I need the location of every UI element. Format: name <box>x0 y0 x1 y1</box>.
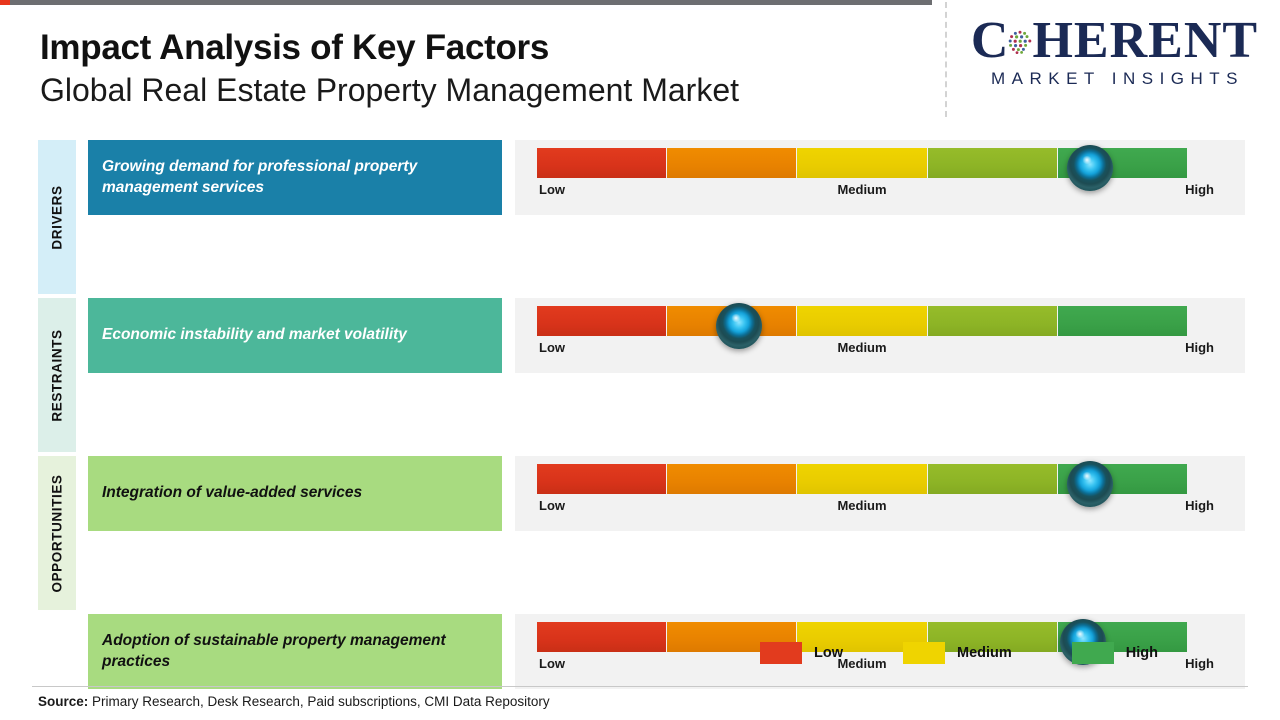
factor-box: Growing demand for professional property… <box>88 140 502 215</box>
factor-label: Integration of value-added services <box>102 483 362 503</box>
gauge-segment-5 <box>1058 306 1187 336</box>
scale-label-high: High <box>1185 340 1214 355</box>
gauge-scale: Low Medium High <box>537 340 1187 360</box>
factor-label: Adoption of sustainable property managem… <box>102 631 488 672</box>
gauge-segment-4 <box>928 464 1057 494</box>
factor-label: Economic instability and market volatili… <box>102 325 407 345</box>
gauge-segment-2 <box>667 306 796 336</box>
gauge-scale: Low Medium High <box>537 498 1187 518</box>
gauge-segment-3 <box>797 148 926 178</box>
group-opportunities: OPPORTUNITIES Integration of value-added… <box>0 456 1280 614</box>
scale-label-low: Low <box>539 182 565 197</box>
impact-gauge: Low Medium High <box>515 140 1245 215</box>
scale-label-medium: Medium <box>837 182 886 197</box>
page-title: Impact Analysis of Key Factors <box>40 28 920 67</box>
source-note: Source: Primary Research, Desk Research,… <box>38 694 550 709</box>
legend-swatch-low <box>760 642 802 664</box>
gauge-segment-1 <box>537 464 666 494</box>
header-divider <box>945 2 947 117</box>
factor-box: Economic instability and market volatili… <box>88 298 502 373</box>
legend-item-low: Low <box>760 642 843 664</box>
gauge-bar <box>537 464 1187 494</box>
legend-swatch-high <box>1072 642 1114 664</box>
scale-label-medium: Medium <box>837 498 886 513</box>
factor-box: Adoption of sustainable property managem… <box>88 614 502 689</box>
logo-initial: C <box>971 15 1009 67</box>
logo: C <box>962 18 1267 89</box>
gauge-segment-1 <box>537 148 666 178</box>
page-subtitle: Global Real Estate Property Management M… <box>40 71 920 109</box>
factor-box: Integration of value-added services <box>88 456 502 531</box>
footer-divider <box>32 686 1248 687</box>
impact-gauge: Low Medium High <box>515 298 1245 373</box>
group-restraints: RESTRAINTS Economic instability and mark… <box>0 298 1280 456</box>
infographic-page: Impact Analysis of Key Factors Global Re… <box>0 0 1280 720</box>
gauge-segment-1 <box>537 622 666 652</box>
gauge-segment-3 <box>797 306 926 336</box>
table-row: Integration of value-added services Low … <box>0 456 1280 531</box>
top-accent-bar <box>0 0 932 5</box>
gauge-segment-5 <box>1058 464 1187 494</box>
scale-label-low: Low <box>539 498 565 513</box>
impact-gauge: Low Medium High <box>515 456 1245 531</box>
legend-label-low: Low <box>814 645 843 661</box>
logo-tagline: MARKET INSIGHTS <box>962 69 1267 89</box>
corner-accent <box>0 0 10 5</box>
legend-label-medium: Medium <box>957 645 1012 661</box>
gauge-segment-4 <box>928 148 1057 178</box>
group-drivers: DRIVERS Growing demand for professional … <box>0 140 1280 298</box>
factor-label: Growing demand for professional property… <box>102 157 488 198</box>
gauge-bar <box>537 148 1187 178</box>
globe-icon <box>1005 27 1035 57</box>
top-accent-bar-right <box>960 0 1280 5</box>
gauge-segment-2 <box>667 464 796 494</box>
logo-wordmark: C <box>962 18 1267 64</box>
gauge-segment-3 <box>797 464 926 494</box>
gauge-segment-4 <box>928 306 1057 336</box>
scale-label-medium: Medium <box>837 340 886 355</box>
source-label: Source: <box>38 694 88 709</box>
legend-item-medium: Medium <box>903 642 1012 664</box>
gauge-scale: Low Medium High <box>537 182 1187 202</box>
scale-label-low: Low <box>539 340 565 355</box>
legend-item-high: High <box>1072 642 1158 664</box>
table-row: Growing demand for professional property… <box>0 140 1280 215</box>
legend-label-high: High <box>1126 645 1158 661</box>
impact-matrix: DRIVERS Growing demand for professional … <box>0 140 1280 614</box>
source-text: Primary Research, Desk Research, Paid su… <box>88 694 549 709</box>
table-row: Economic instability and market volatili… <box>0 298 1280 373</box>
legend-swatch-medium <box>903 642 945 664</box>
gauge-segment-2 <box>667 148 796 178</box>
scale-label-high: High <box>1185 498 1214 513</box>
scale-label-high: High <box>1185 182 1214 197</box>
gauge-segment-1 <box>537 306 666 336</box>
logo-wordmark-rest: HERENT <box>1032 15 1258 67</box>
gauge-bar <box>537 306 1187 336</box>
gauge-segment-5 <box>1058 148 1187 178</box>
scale-label-low: Low <box>539 656 565 671</box>
header: Impact Analysis of Key Factors Global Re… <box>40 28 920 110</box>
legend: Low Medium High <box>760 642 1200 664</box>
